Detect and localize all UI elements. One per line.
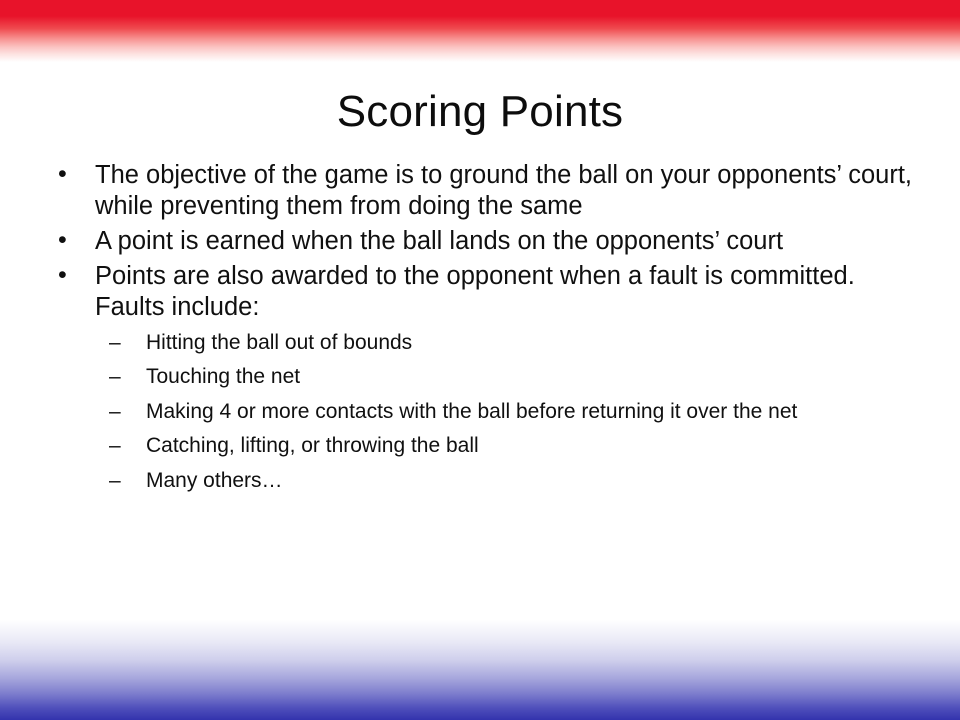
page-title: Scoring Points <box>0 87 960 137</box>
bullet-text: A point is earned when the ball lands on… <box>95 227 783 255</box>
sub-bullet-text: Many others… <box>146 469 283 492</box>
bottom-decorative-band <box>0 620 960 720</box>
sub-bullet-text: Hitting the ball out of bounds <box>146 331 412 354</box>
list-item: A point is earned when the ball lands on… <box>44 226 924 257</box>
list-item: The objective of the game is to ground t… <box>44 160 924 222</box>
top-decorative-band <box>0 0 960 62</box>
list-item: Hitting the ball out of bounds <box>95 330 924 356</box>
sub-bullet-list: Hitting the ball out of bounds Touching … <box>95 330 924 494</box>
sub-bullet-text: Touching the net <box>146 365 300 388</box>
sub-bullet-text: Catching, lifting, or throwing the ball <box>146 434 479 457</box>
list-item: Catching, lifting, or throwing the ball <box>95 433 924 459</box>
list-item: Making 4 or more contacts with the ball … <box>95 399 924 425</box>
list-item: Many others… <box>95 468 924 494</box>
sub-bullet-text: Making 4 or more contacts with the ball … <box>146 400 797 423</box>
bullet-text: Points are also awarded to the opponent … <box>95 262 855 321</box>
bullet-list: The objective of the game is to ground t… <box>44 160 924 494</box>
list-item: Points are also awarded to the opponent … <box>44 261 924 493</box>
slide: Scoring Points The objective of the game… <box>0 0 960 720</box>
slide-body: The objective of the game is to ground t… <box>44 160 924 503</box>
list-item: Touching the net <box>95 364 924 390</box>
bullet-text: The objective of the game is to ground t… <box>95 161 912 220</box>
